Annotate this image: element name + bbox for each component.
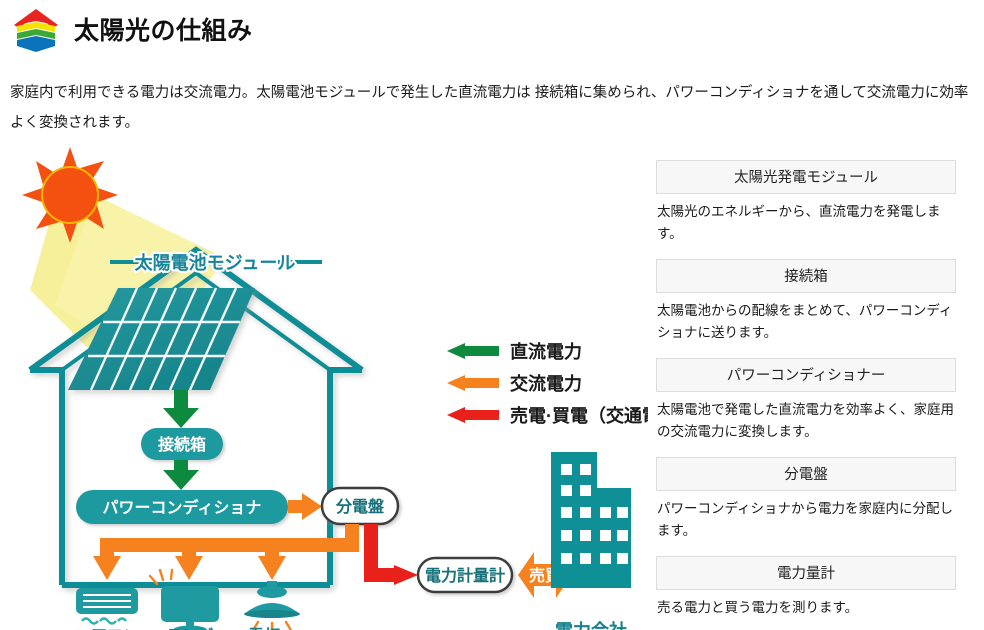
info-desc-power-meter: 売る電力と買う電力を測ります。 xyxy=(656,597,956,619)
info-title-distribution-board: 分電盤 xyxy=(656,457,956,491)
legend-label-ac: 交流電力 xyxy=(510,373,582,394)
television-icon xyxy=(150,570,219,630)
info-title-power-conditioner: パワーコンディショナー xyxy=(656,358,956,392)
air-conditioner-icon xyxy=(76,588,138,624)
page-title: 太陽光の仕組み xyxy=(74,19,253,44)
ceiling-light-icon xyxy=(244,581,300,630)
info-item-power-conditioner: パワーコンディショナー 太陽電池で発電した直流電力を効率よく、家庭用の交流電力に… xyxy=(656,358,956,443)
info-item-distribution-board: 分電盤 パワーコンディショナから電力を家庭内に分配します。 xyxy=(656,457,956,542)
info-item-power-meter: 電力量計 売る電力と買う電力を測ります。 xyxy=(656,556,956,619)
solar-panel-label: 太陽電池モジュール xyxy=(110,252,322,273)
legend-sell-buy-power: 売電·買電（交通電力） xyxy=(447,405,648,426)
info-title-solar-module: 太陽光発電モジュール xyxy=(656,160,956,194)
dc-arrow-panel-to-junction xyxy=(163,390,199,428)
info-item-junction-box: 接続箱 太陽電池からの配線をまとめて、パワーコンディショナに送ります。 xyxy=(656,259,956,344)
junction-box-node: 接続箱 xyxy=(141,428,223,460)
power-conditioner-label: パワーコンディショナ xyxy=(103,498,262,517)
legend-dc-power: 直流電力 xyxy=(447,341,582,362)
legend-label-dc: 直流電力 xyxy=(510,341,582,362)
sell-buy-line-board-to-meter xyxy=(364,524,418,585)
intro-paragraph: 家庭内で利用できる電力は交流電力。太陽電池モジュールで発生した直流電力は 接続箱… xyxy=(10,78,972,138)
distribution-board-node: 分電盤 xyxy=(322,488,398,524)
ac-distribution-bus xyxy=(93,524,359,580)
dc-arrow-junction-to-conditioner xyxy=(163,460,199,490)
info-desc-junction-box: 太陽電池からの配線をまとめて、パワーコンディショナに送ります。 xyxy=(656,300,956,344)
page-header: 太陽光の仕組み xyxy=(0,0,984,62)
legend-ac-power: 交流電力 xyxy=(447,373,582,394)
info-desc-power-conditioner: 太陽電池で発電した直流電力を効率よく、家庭用の交流電力に変換します。 xyxy=(656,399,956,443)
info-item-solar-module: 太陽光発電モジュール 太陽光のエネルギーから、直流電力を発電します。 xyxy=(656,160,956,245)
utility-company-label: 電力会社 xyxy=(555,620,627,630)
junction-box-label: 接続箱 xyxy=(158,435,206,454)
utility-building-icon xyxy=(551,452,631,588)
ac-arrow-conditioner-to-board xyxy=(288,493,322,520)
power-conditioner-node: パワーコンディショナ xyxy=(76,490,288,524)
component-info-panel: 太陽光発電モジュール 太陽光のエネルギーから、直流電力を発電します。 接続箱 太… xyxy=(656,160,956,619)
solar-panel-label-text: 太陽電池モジュール xyxy=(134,252,296,273)
meter-node: 電力計量計 xyxy=(418,558,512,592)
distribution-board-label: 分電盤 xyxy=(335,497,385,516)
info-desc-solar-module: 太陽光のエネルギーから、直流電力を発電します。 xyxy=(656,201,956,245)
info-title-junction-box: 接続箱 xyxy=(656,259,956,293)
meter-label: 電力計量計 xyxy=(425,566,505,585)
sun-icon xyxy=(22,147,118,243)
info-title-power-meter: 電力量計 xyxy=(656,556,956,590)
solar-system-diagram: 太陽電池モジュール 接続箱 パワーコンディショナ 分電盤 xyxy=(0,140,648,630)
info-desc-distribution-board: パワーコンディショナから電力を家庭内に分配します。 xyxy=(656,498,956,542)
legend-label-sell-buy: 売電·買電（交通電力） xyxy=(510,405,648,426)
house-logo-icon xyxy=(12,8,60,54)
